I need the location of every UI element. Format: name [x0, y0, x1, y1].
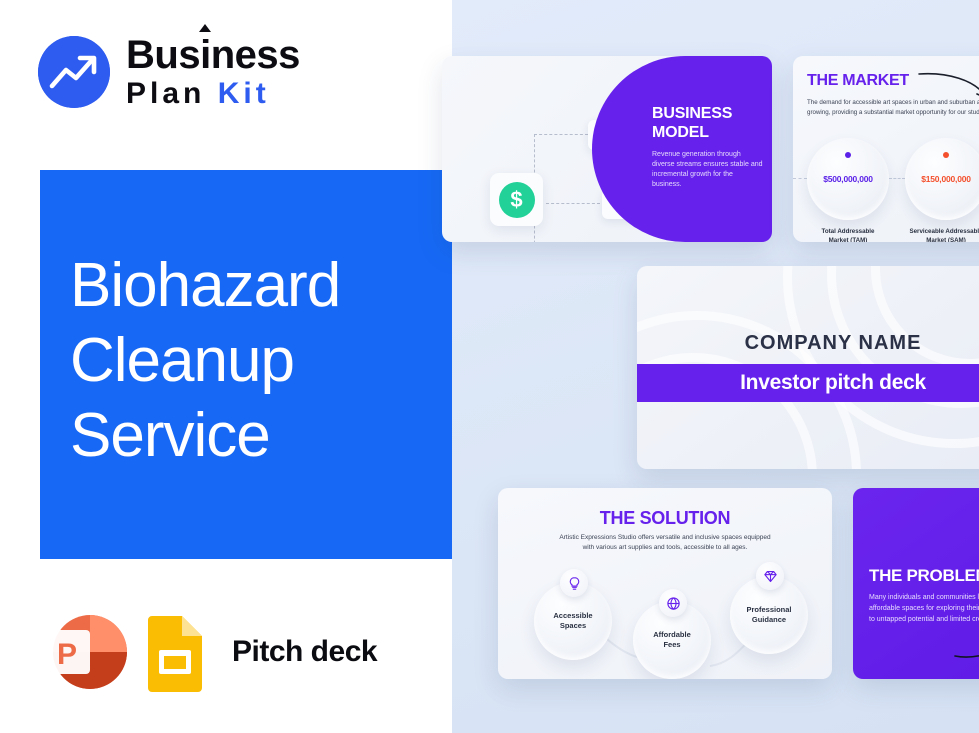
solution-item-label: Affordable Fees — [653, 630, 691, 650]
hero-line-2: Cleanup — [70, 323, 440, 398]
pitch-deck-label: Pitch deck — [232, 635, 377, 669]
investor-pitch-label: Investor pitch deck — [740, 371, 926, 395]
metric-dot — [845, 152, 851, 158]
slide-the-solution[interactable]: THE SOLUTION Artistic Expressions Studio… — [498, 488, 832, 679]
business-model-description: Revenue generation through diverse strea… — [652, 150, 764, 190]
brand-logo: Business Plan Kit — [38, 33, 300, 111]
brand-kit-text: Kit — [218, 77, 270, 110]
curved-arrow-icon — [953, 636, 979, 662]
problem-description: Many individuals and communities lack ac… — [869, 592, 979, 625]
investor-pitch-bar: Investor pitch deck — [637, 364, 979, 402]
hero-line-1: Biohazard — [70, 248, 440, 323]
page-title: Biohazard Cleanup Service — [70, 248, 440, 473]
globe-icon — [659, 589, 687, 617]
brand-line-2: Plan Kit — [126, 77, 300, 111]
poster-canvas: Business Plan Kit Biohazard Cleanup Serv… — [0, 0, 979, 733]
slide-business-model[interactable]: $ Drop-in Fees Session Workshops Commiss… — [442, 56, 772, 242]
slide-the-market[interactable]: THE MARKET The demand for accessible art… — [793, 56, 979, 242]
market-metric-caption: Serviceable Addressable Market (SAM) — [891, 228, 979, 242]
market-title: THE MARKET — [807, 72, 909, 90]
google-slides-icon — [144, 612, 206, 692]
format-badges: P Pitch deck — [38, 612, 377, 692]
solution-item-label: Accessible Spaces — [553, 611, 592, 631]
trend-arrow-circle-icon — [38, 36, 110, 108]
brand-line-1: Business — [126, 33, 300, 77]
brand-plan-text: Plan — [126, 77, 205, 110]
svg-text:P: P — [57, 638, 77, 671]
slide-the-problem[interactable]: THE PROBLEM Many individuals and communi… — [853, 488, 979, 679]
dollar-sign-icon: $ — [490, 173, 543, 226]
connector-top — [534, 134, 588, 135]
solution-description: Artistic Expressions Studio offers versa… — [555, 533, 775, 553]
solution-title: THE SOLUTION — [498, 508, 832, 529]
market-description: The demand for accessible art spaces in … — [807, 98, 979, 117]
market-metric-circle: $150,000,000 — [905, 138, 979, 220]
connector-middle — [546, 203, 600, 204]
metric-value: $150,000,000 — [921, 174, 971, 184]
metric-value: $500,000,000 — [823, 174, 873, 184]
business-model-title: BUSINESS MODEL — [652, 104, 764, 142]
lightbulb-icon — [560, 569, 588, 597]
powerpoint-icon: P — [38, 612, 130, 692]
market-metric-caption: Total Addressable Market (TAM) — [793, 228, 903, 242]
hero-line-3: Service — [70, 398, 440, 473]
market-connector — [793, 178, 807, 179]
market-metric-circle: $500,000,000 — [807, 138, 889, 220]
metric-dot — [943, 152, 949, 158]
company-name: COMPANY NAME — [637, 332, 979, 355]
market-connector — [889, 178, 905, 179]
diamond-icon — [756, 562, 784, 590]
solution-item-label: Professional Guidance — [746, 605, 791, 625]
business-model-purple-shape: BUSINESS MODEL Revenue generation throug… — [592, 56, 772, 242]
problem-title: THE PROBLEM — [869, 566, 979, 586]
brand-wordmark: Business Plan Kit — [126, 33, 300, 111]
slide-company-title[interactable]: COMPANY NAME Investor pitch deck — [637, 266, 979, 469]
